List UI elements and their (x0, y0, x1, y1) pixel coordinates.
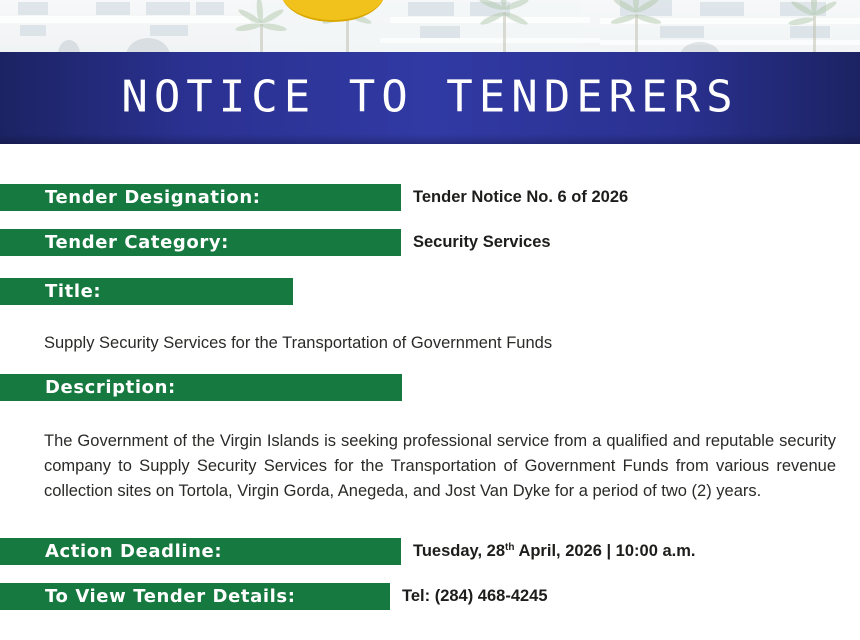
field-row-deadline: Action Deadline: Tuesday, 28th April, 20… (0, 538, 860, 565)
value-designation: Tender Notice No. 6 of 2026 (401, 188, 628, 207)
spacer (0, 504, 860, 538)
field-row-designation: Tender Designation: Tender Notice No. 6 … (0, 184, 860, 211)
field-row-description: Description: (0, 374, 860, 401)
deadline-rest: April, 2026 | 10:00 a.m. (514, 542, 695, 560)
spacer (0, 356, 860, 374)
spacer (0, 144, 860, 184)
page-title: NOTICE TO TENDERERS (0, 71, 860, 122)
value-category: Security Services (401, 233, 551, 252)
label-category: Tender Category: (45, 232, 229, 253)
notice-banner: NOTICE TO TENDERERS (0, 52, 860, 144)
value-deadline: Tuesday, 28th April, 2026 | 10:00 a.m. (401, 542, 696, 561)
label-description: Description: (45, 377, 176, 398)
label-title: Title: (45, 281, 101, 302)
field-row-category: Tender Category: Security Services (0, 229, 860, 256)
field-row-title: Title: (0, 278, 860, 305)
photo-whitewash-overlay (0, 0, 860, 52)
spacer (0, 401, 860, 429)
value-view-details: Tel: (284) 468-4245 (390, 587, 548, 606)
label-bar-description: Description: (0, 374, 402, 401)
label-designation: Tender Designation: (45, 187, 261, 208)
label-bar-title: Title: (0, 278, 293, 305)
coat-of-arms: VIGILATE (281, 0, 385, 22)
value-title: Supply Security Services for the Transpo… (0, 331, 860, 356)
label-deadline: Action Deadline: (45, 541, 222, 562)
spacer (0, 305, 860, 331)
label-bar-category: Tender Category: (0, 229, 401, 256)
value-description: The Government of the Virgin Islands is … (0, 429, 860, 504)
header-photo: VIGILATE (0, 0, 860, 52)
label-bar-view-details: To View Tender Details: (0, 583, 390, 610)
label-view-details: To View Tender Details: (45, 586, 296, 607)
spacer (0, 211, 860, 229)
spacer (0, 565, 860, 583)
deadline-day: Tuesday, 28 (413, 542, 505, 560)
crest-ribbon (281, 0, 385, 22)
label-bar-designation: Tender Designation: (0, 184, 401, 211)
spacer (0, 256, 860, 278)
field-row-view-details: To View Tender Details: Tel: (284) 468-4… (0, 583, 860, 610)
label-bar-deadline: Action Deadline: (0, 538, 401, 565)
notice-body: Tender Designation: Tender Notice No. 6 … (0, 144, 860, 610)
